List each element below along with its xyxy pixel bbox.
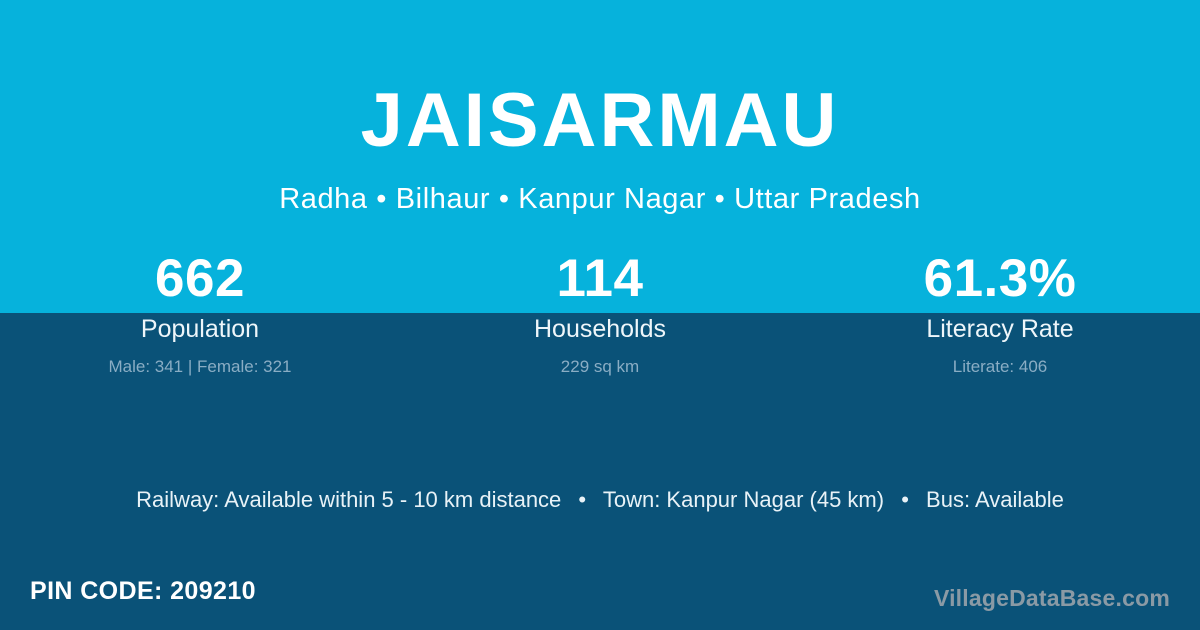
stat-value: 114 <box>400 248 800 310</box>
stat-households: 114 Households 229 sq km <box>400 248 800 380</box>
stat-value: 61.3% <box>800 248 1200 310</box>
stat-literacy-rate: 61.3% Literacy Rate Literate: 406 <box>800 248 1200 380</box>
stat-label: Population <box>0 312 400 346</box>
stat-population: 662 Population Male: 341 | Female: 321 <box>0 248 400 380</box>
infra-railway: Railway: Available within 5 - 10 km dist… <box>136 487 561 512</box>
stat-label: Literacy Rate <box>800 312 1200 346</box>
infra-separator-icon: • <box>890 485 920 515</box>
stat-subtext: Literate: 406 <box>800 354 1200 380</box>
infra-separator-icon: • <box>567 485 597 515</box>
pin-code: PIN CODE: 209210 <box>30 575 256 607</box>
page-title: JAISARMAU <box>0 83 1200 159</box>
stat-label: Households <box>400 312 800 346</box>
stat-subtext: 229 sq km <box>400 354 800 380</box>
infrastructure-line: Railway: Available within 5 - 10 km dist… <box>0 485 1200 515</box>
infra-town: Town: Kanpur Nagar (45 km) <box>603 487 884 512</box>
village-info-card: JAISARMAU Radha • Bilhaur • Kanpur Nagar… <box>0 0 1200 630</box>
breadcrumb: Radha • Bilhaur • Kanpur Nagar • Uttar P… <box>0 182 1200 217</box>
stats-row: 662 Population Male: 341 | Female: 321 1… <box>0 248 1200 380</box>
infra-bus: Bus: Available <box>926 487 1064 512</box>
site-brand: VillageDataBase.com <box>934 583 1170 613</box>
stat-subtext: Male: 341 | Female: 321 <box>0 354 400 380</box>
stat-value: 662 <box>0 248 400 310</box>
